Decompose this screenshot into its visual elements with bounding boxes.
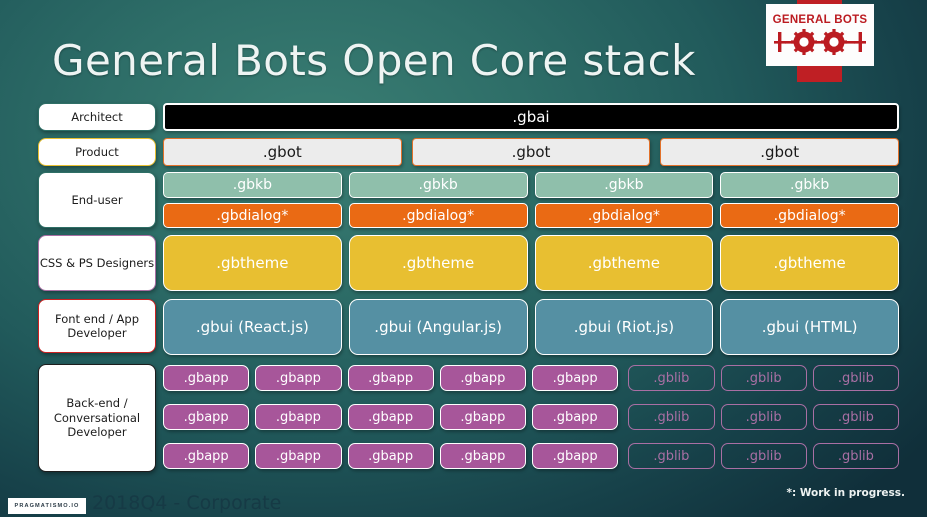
cell-label: .gbapp [276,410,321,425]
role-label-front-end-app-developer: Font end / App Developer [38,299,156,353]
cell-gblib[interactable]: .gblib [628,365,714,391]
cell-label: .gblib [653,371,689,386]
cell-label: .gbapp [368,371,413,386]
cell-gbapp[interactable]: .gbapp [255,404,341,430]
cell-label: .gbapp [553,371,598,386]
cell-gbapp[interactable]: .gbapp [348,365,434,391]
cell-label: .gblib [746,371,782,386]
role-label-text: End-user [71,193,122,207]
cell-label: .gbui (Riot.js) [574,318,674,336]
cell-gbapp[interactable]: .gbapp [255,443,341,469]
cell-gbtheme[interactable]: .gbtheme [720,235,899,291]
cell-gblib[interactable]: .gblib [721,365,807,391]
cell-label: .gbdialog* [774,208,846,224]
cell-label: .gbui (Angular.js) [374,318,502,336]
row-gbtheme: .gbtheme .gbtheme .gbtheme .gbtheme [163,235,899,291]
logo-card: GENERAL BOTS [766,4,874,66]
cell-label: .gbtheme [216,254,288,272]
cell-gbtheme[interactable]: .gbtheme [163,235,342,291]
cell-gbapp[interactable]: .gbapp [163,443,249,469]
general-bots-logo: GENERAL BOTS [766,0,874,84]
cell-label: .gblib [838,371,874,386]
cell-gblib[interactable]: .gblib [628,404,714,430]
cell-gbot[interactable]: .gbot [163,138,402,166]
cell-gblib[interactable]: .gblib [813,365,899,391]
cell-label: .gblib [653,449,689,464]
pragmatismo-wordmark: PRAGMATISMO.IO [14,503,79,509]
cell-label: .gbui (HTML) [762,318,858,336]
logo-wordmark: GENERAL BOTS [773,15,868,27]
gears-icon [774,29,866,55]
cell-label: .gbkb [419,177,458,193]
row-gbapp-gblib-3: .gbapp .gbapp .gbapp .gbapp .gbapp .gbli… [163,443,899,469]
cell-label: .gbapp [184,449,229,464]
cell-gbapp[interactable]: .gbapp [532,443,618,469]
cell-label: .gbapp [553,410,598,425]
role-label-architect: Architect [38,103,156,131]
cell-gbtheme[interactable]: .gbtheme [349,235,528,291]
cell-label: .gblib [838,410,874,425]
cell-gbapp[interactable]: .gbapp [163,404,249,430]
cell-label: .gbapp [460,371,505,386]
cell-label: .gbdialog* [402,208,474,224]
role-label-text: CSS & PS Designers [40,256,154,270]
cell-gbot[interactable]: .gbot [660,138,899,166]
role-label-back-end-conversational-developer: Back-end / Conversational Developer [38,364,156,472]
cell-gbot[interactable]: .gbot [412,138,651,166]
cell-label: .gbapp [184,371,229,386]
cell-gblib[interactable]: .gblib [813,443,899,469]
row-gbdialog: .gbdialog* .gbdialog* .gbdialog* .gbdial… [163,203,899,228]
pragmatismo-logo: PRAGMATISMO.IO [8,498,86,514]
page-title: General Bots Open Core stack [52,36,696,85]
cell-gbai[interactable]: .gbai [163,103,899,131]
role-label-text: Font end / App Developer [39,312,155,341]
cell-label: .gbapp [368,410,413,425]
cell-label: .gbot [760,143,799,161]
role-label-product: Product [38,138,156,166]
cell-gbapp[interactable]: .gbapp [255,365,341,391]
cell-label: .gbapp [184,410,229,425]
cell-gbui-angular[interactable]: .gbui (Angular.js) [349,299,528,355]
cell-label: .gbot [263,143,302,161]
slide-canvas: GENERAL BOTS [0,0,927,517]
cell-label: .gbapp [553,449,598,464]
cell-gbdialog[interactable]: .gbdialog* [163,203,342,228]
cell-label: .gblib [746,449,782,464]
cell-gblib[interactable]: .gblib [721,404,807,430]
cell-label: .gbtheme [402,254,474,272]
cell-gbapp[interactable]: .gbapp [348,404,434,430]
cell-label: .gbai [512,108,549,126]
role-label-css-ps-designers: CSS & PS Designers [38,235,156,291]
row-gbapp-gblib-1: .gbapp .gbapp .gbapp .gbapp .gbapp .gbli… [163,365,899,391]
row-gbai: .gbai [163,103,899,131]
cell-gbkb[interactable]: .gbkb [163,172,342,198]
cell-label: .gbkb [604,177,643,193]
cell-label: .gbtheme [588,254,660,272]
role-label-text: Architect [71,110,123,124]
cell-gblib[interactable]: .gblib [628,443,714,469]
cell-gbapp[interactable]: .gbapp [440,404,526,430]
row-gbkb: .gbkb .gbkb .gbkb .gbkb [163,172,899,198]
cell-gbui-html[interactable]: .gbui (HTML) [720,299,899,355]
cell-label: .gblib [746,410,782,425]
cell-label: .gbapp [460,410,505,425]
cell-gbapp[interactable]: .gbapp [440,443,526,469]
role-label-text: Back-end / Conversational Developer [39,396,155,439]
cell-label: .gbot [512,143,551,161]
cell-label: .gbkb [790,177,829,193]
cell-label: .gbapp [276,449,321,464]
cell-gbdialog[interactable]: .gbdialog* [349,203,528,228]
cell-gbapp[interactable]: .gbapp [348,443,434,469]
cell-gbdialog[interactable]: .gbdialog* [720,203,899,228]
cell-gbkb[interactable]: .gbkb [349,172,528,198]
cell-gbdialog[interactable]: .gbdialog* [535,203,714,228]
cell-gbui-react[interactable]: .gbui (React.js) [163,299,342,355]
cell-gbui-riot[interactable]: .gbui (Riot.js) [535,299,714,355]
row-gbapp-gblib-2: .gbapp .gbapp .gbapp .gbapp .gbapp .gbli… [163,404,899,430]
cell-label: .gbdialog* [588,208,660,224]
cell-gbtheme[interactable]: .gbtheme [535,235,714,291]
cell-gblib[interactable]: .gblib [721,443,807,469]
cell-gbapp[interactable]: .gbapp [163,365,249,391]
work-in-progress-note: *: Work in progress. [786,487,905,499]
cell-gbapp[interactable]: .gbapp [532,404,618,430]
cell-label: .gbtheme [773,254,845,272]
role-label-text: Product [75,145,119,159]
cell-gbkb[interactable]: .gbkb [720,172,899,198]
cell-label: .gbapp [460,449,505,464]
cell-gbapp[interactable]: .gbapp [532,365,618,391]
cell-label: .gbdialog* [216,208,288,224]
cell-gblib[interactable]: .gblib [813,404,899,430]
cell-label: .gbui (React.js) [196,318,309,336]
row-gbui: .gbui (React.js) .gbui (Angular.js) .gbu… [163,299,899,355]
cell-gbkb[interactable]: .gbkb [535,172,714,198]
cell-label: .gblib [838,449,874,464]
row-gbot: .gbot .gbot .gbot [163,138,899,166]
cell-label: .gbapp [276,371,321,386]
cell-label: .gblib [653,410,689,425]
footer-caption: 2018Q4 - Corporate [92,492,281,514]
cell-label: .gbapp [368,449,413,464]
cell-label: .gbkb [233,177,272,193]
role-label-end-user: End-user [38,172,156,228]
cell-gbapp[interactable]: .gbapp [440,365,526,391]
